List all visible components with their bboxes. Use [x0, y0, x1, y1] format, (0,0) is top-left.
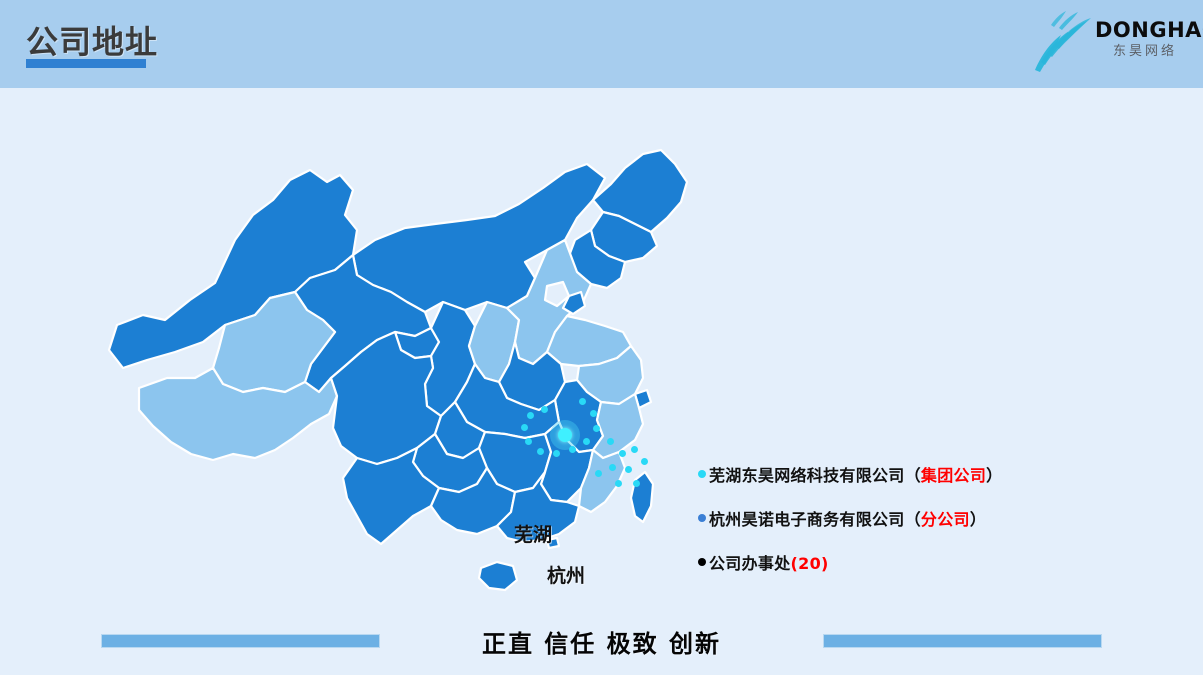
office-dot[interactable] [537, 448, 544, 455]
office-dot[interactable] [593, 425, 600, 432]
office-dot[interactable] [541, 406, 548, 413]
province-hainan [479, 562, 517, 590]
office-dot[interactable] [569, 446, 576, 453]
legend-tag-close: ） [986, 466, 1002, 485]
page-title: 公司地址 [26, 17, 158, 63]
logo-text-block: DONGHAO 东昊网络 [1095, 18, 1195, 62]
legend-company-name: 芜湖东昊网络科技有限公司 [709, 466, 905, 485]
logo-company-name: DONGHAO [1095, 18, 1195, 42]
logo-company-subname: 东昊网络 [1095, 42, 1195, 62]
office-dot[interactable] [633, 480, 640, 487]
office-dot[interactable] [527, 412, 534, 419]
office-dot[interactable] [521, 424, 528, 431]
donghao-wing-icon [1031, 10, 1093, 74]
office-dot[interactable] [625, 466, 632, 473]
legend-tag-close: ） [970, 510, 986, 529]
office-dot[interactable] [615, 480, 622, 487]
legend-tag: 分公司 [921, 510, 970, 529]
legend-label: 杭州昊诺电子商务有限公司（分公司） [709, 506, 986, 530]
legend-tag-open: （ [905, 466, 921, 485]
legend-bullet-black [698, 558, 706, 566]
map-label-wuhu: 芜湖 [514, 520, 552, 547]
footer-decoration-bar-right [823, 634, 1102, 648]
legend-tag-open: （ [905, 510, 921, 529]
legend-label: 公司办事处(20) [709, 550, 829, 574]
office-dot[interactable] [595, 470, 602, 477]
legend-item-offices: 公司办事处(20) [698, 550, 1028, 574]
office-dot[interactable] [579, 398, 586, 405]
company-logo: DONGHAO 东昊网络 [1031, 8, 1191, 78]
china-map-container: 芜湖 杭州 [95, 120, 755, 610]
office-dot[interactable] [525, 438, 532, 445]
office-dot[interactable] [619, 450, 626, 457]
legend-company-name: 公司办事处 [709, 554, 791, 573]
legend-bullet-cyan [698, 470, 706, 478]
office-dot[interactable] [553, 450, 560, 457]
legend-bullet-blue [698, 514, 706, 522]
office-dot[interactable] [631, 446, 638, 453]
legend-label: 芜湖东昊网络科技有限公司（集团公司） [709, 462, 1002, 486]
office-dot[interactable] [590, 410, 597, 417]
legend-item-group-company: 芜湖东昊网络科技有限公司（集团公司） [698, 462, 1028, 486]
legend-tag-close: ) [821, 554, 829, 573]
wuhu-headquarters-marker[interactable] [550, 420, 580, 450]
page-header: 公司地址 DONGHAO 东昊网络 [0, 0, 1203, 88]
legend-tag: 集团公司 [921, 466, 986, 485]
legend-panel: 芜湖东昊网络科技有限公司（集团公司） 杭州昊诺电子商务有限公司（分公司） 公司办… [698, 462, 1028, 594]
legend-tag: 20 [798, 554, 821, 573]
marker-core-dot [558, 428, 572, 442]
office-dot[interactable] [641, 458, 648, 465]
office-dot[interactable] [607, 438, 614, 445]
title-underline-accent [26, 59, 146, 68]
office-dot[interactable] [583, 438, 590, 445]
legend-tag-open: ( [791, 554, 799, 573]
legend-company-name: 杭州昊诺电子商务有限公司 [709, 510, 905, 529]
legend-item-branch-company: 杭州昊诺电子商务有限公司（分公司） [698, 506, 1028, 530]
office-dot[interactable] [609, 464, 616, 471]
china-provinces-map [95, 120, 755, 610]
map-label-hangzhou: 杭州 [547, 561, 585, 588]
